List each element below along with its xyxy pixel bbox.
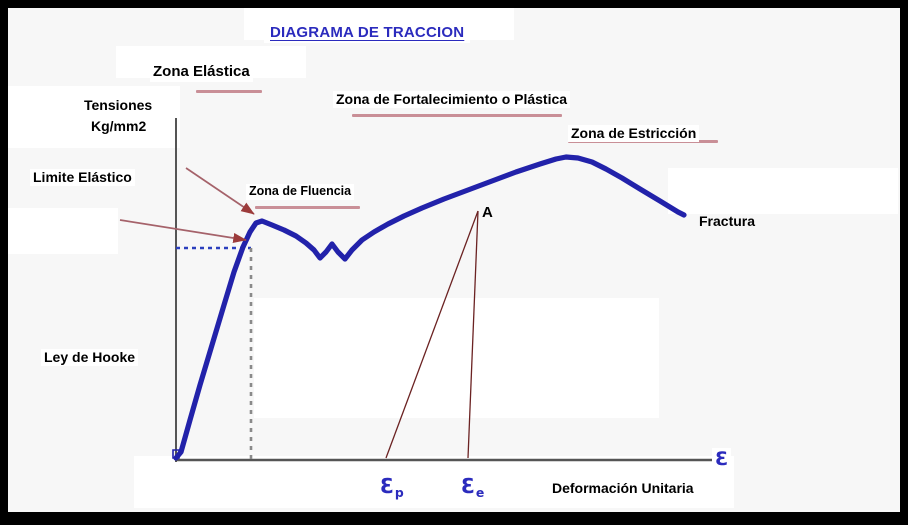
wash-patch — [8, 208, 118, 254]
underline-zona-fluencia — [255, 206, 360, 209]
wash-patch — [668, 168, 898, 214]
label-limite-elastico: Limite Elástico — [30, 169, 135, 186]
page-title: DIAGRAMA DE TRACCION — [264, 22, 470, 43]
image-frame: DIAGRAMA DE TRACCION Zona Elástica Zona … — [0, 0, 908, 525]
label-zona-fluencia: Zona de Fluencia — [246, 184, 354, 200]
x-axis-epsilon-symbol: Ɛ — [712, 448, 731, 470]
epsilon-p-subscript: p — [395, 485, 404, 500]
epsilon-glyph: Ɛ — [461, 474, 475, 498]
label-point-a: A — [479, 204, 496, 223]
underline-zona-elastica — [196, 90, 262, 93]
arrow-limite-elastico — [120, 220, 246, 240]
epsilon-glyph: Ɛ — [380, 474, 394, 498]
epsilon-glyph: Ɛ — [715, 448, 728, 470]
label-zona-estriccion: Zona de Estricción — [568, 125, 699, 142]
epsilon-p-marker: Ɛp — [377, 474, 406, 498]
label-zona-elastica: Zona Elástica — [150, 63, 253, 82]
x-axis-label: Deformación Unitaria — [549, 480, 697, 497]
origin-tick — [173, 450, 179, 458]
diagram-vectors — [8, 8, 900, 512]
point-a-line-plastic — [386, 211, 478, 458]
diagram-canvas: DIAGRAMA DE TRACCION Zona Elástica Zona … — [8, 8, 900, 512]
epsilon-e-subscript: e — [476, 485, 484, 500]
point-a-line-elastic — [468, 211, 478, 458]
label-ley-de-hooke: Ley de Hooke — [41, 349, 138, 366]
y-axis-label-line1: Tensiones — [81, 97, 155, 114]
label-zona-fortalecimiento: Zona de Fortalecimiento o Plástica — [333, 91, 570, 108]
y-axis-label-line2: Kg/mm2 — [88, 118, 149, 135]
label-fractura: Fractura — [696, 213, 758, 230]
underline-zona-fortalecimiento — [352, 114, 562, 117]
arrow-zona-elastica — [186, 168, 254, 214]
epsilon-e-marker: Ɛe — [458, 474, 486, 498]
wash-patch — [8, 86, 180, 148]
stress-strain-curve — [176, 157, 684, 458]
wash-patch — [254, 298, 659, 418]
